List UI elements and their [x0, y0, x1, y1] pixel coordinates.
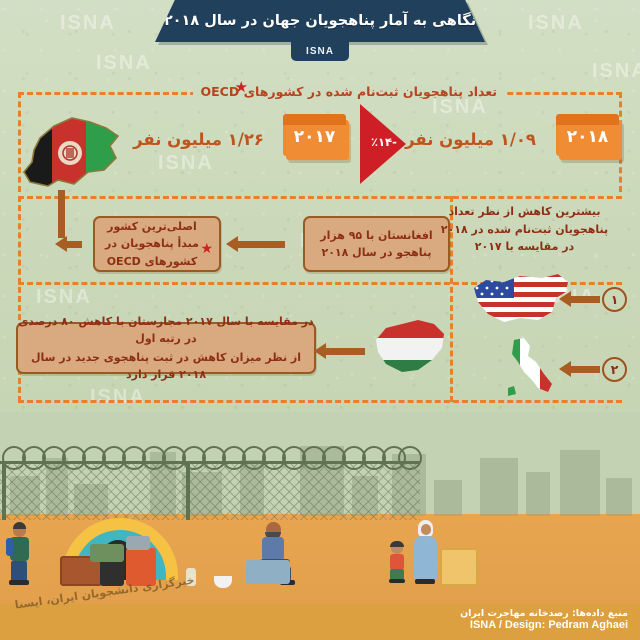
hungary-stat-box: در مقایسه با سال ۲۰۱۷ مجارستان با کاهش ۸…	[16, 322, 316, 374]
barbed-wire	[0, 446, 420, 468]
fence-post	[2, 462, 6, 520]
infographic-root: ISNA ISNA ISNA ISNA ISNA ISNA ISNA ISNA …	[0, 0, 640, 640]
arrow-origin-to-afghanistan	[237, 241, 285, 248]
arrow-rank-2	[570, 366, 600, 373]
credit-text: ISNA / Design: Pedram Aghaei	[460, 619, 628, 631]
value-2017: ۱/۲۶ میلیون نفر	[133, 130, 264, 149]
afghanistan-map-icon	[14, 100, 126, 204]
footer-source: منبع داده‌ها: رصدخانه مهاجرت ایران ISNA …	[460, 608, 628, 631]
page-title: نگاهی به آمار پناهجویان جهان در سال ۲۰۱۸	[164, 14, 476, 29]
calendar-2018-year: ۲۰۱۸	[556, 122, 619, 152]
value-2018: ۱/۰۹ میلیون نفر	[405, 130, 536, 149]
person-child	[386, 542, 408, 584]
afghanistan-stat-text: افغانستان با ۹۵ هزار پناهجو در سال ۲۰۱۸	[305, 227, 448, 261]
origin-country-box: ★ اصلی‌ترین کشور مبدأ پناهجویان در کشوره…	[93, 216, 221, 272]
banner-tab: ISNA	[291, 42, 349, 61]
person-woman	[410, 520, 440, 584]
bag	[126, 536, 150, 550]
refugee-camp-illustration	[0, 412, 640, 608]
bag	[246, 560, 290, 584]
bowl	[214, 576, 232, 588]
arrow-into-origin-box	[66, 241, 82, 248]
fence-post	[186, 462, 190, 520]
italy-flag-map-icon	[500, 336, 560, 402]
arrow-hungary	[325, 348, 365, 355]
hungary-line-2: از نظر میزان کاهش در ثبت پناهجوی جدید در…	[18, 349, 314, 383]
person-standing	[6, 524, 32, 584]
decline-percentage: -٪۱۴	[371, 135, 397, 149]
calendar-2017-year: ۲۰۱۷	[283, 122, 346, 152]
arrow-map-to-box	[58, 190, 65, 238]
hungary-line-1: در مقایسه با سال ۲۰۱۷ مجارستان با کاهش ۸…	[18, 313, 314, 347]
bag	[90, 544, 124, 562]
suitcase	[440, 548, 478, 586]
rank-badge-1: ۱	[602, 287, 627, 312]
decline-panel-heading: بیشترین کاهش از نظر تعداد پناهجویان ثبت‌…	[437, 203, 612, 256]
arrow-rank-1	[570, 296, 600, 303]
hungary-flag-map-icon	[372, 316, 448, 382]
banner-tab-label: ISNA	[306, 46, 334, 57]
source-text: منبع داده‌ها: رصدخانه مهاجرت ایران	[460, 608, 628, 619]
red-star-icon: ★	[235, 80, 248, 95]
calendar-2018-icon: ۲۰۱۸	[556, 114, 622, 160]
origin-country-text: اصلی‌ترین کشور مبدأ پناهجویان در کشورهای…	[101, 218, 203, 269]
title-banner: نگاهی به آمار پناهجویان جهان در سال ۲۰۱۸	[155, 0, 485, 42]
calendar-2017-icon: ۲۰۱۷	[283, 114, 349, 160]
red-star-icon: ★	[200, 239, 213, 261]
fence-mesh	[0, 461, 420, 520]
afghanistan-stat-box: افغانستان با ۹۵ هزار پناهجو در سال ۲۰۱۸	[303, 216, 450, 272]
rank-badge-2: ۲	[602, 357, 627, 382]
